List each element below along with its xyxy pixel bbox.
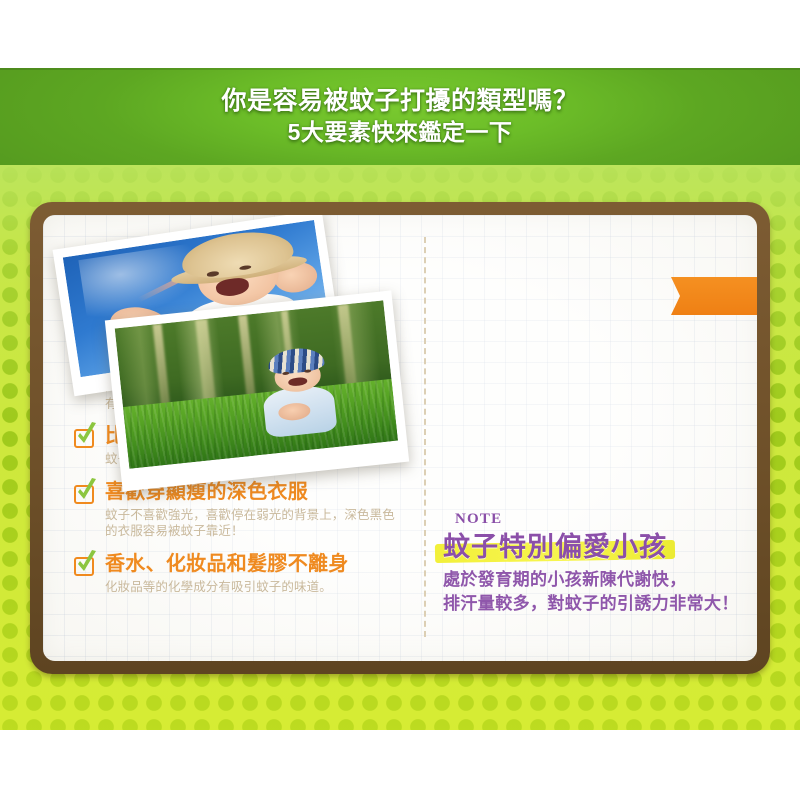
list-item-description: 化妝品等的化學成分有吸引蚊子的味道。 xyxy=(105,579,409,596)
content-card: 活動力強 肺活量大 蚊子在幾十公尺外就能探測人體呼出的二氧化碳！ 肺活量大會呼出… xyxy=(30,202,770,674)
note-label: NOTE xyxy=(455,511,757,528)
list-item-description: 蚊子不喜歡強光，喜歡停在弱光的背景上，深色黑色 的衣服容易被蚊子靠近！ xyxy=(105,507,409,540)
description-line: 化妝品等的化學成分有吸引蚊子的味道。 xyxy=(105,579,409,596)
checkbox-checked-icon xyxy=(74,483,98,506)
note-body-line: 排汗量較多，對蚊子的引誘力非常大！ xyxy=(443,592,757,616)
note-title-wrapper: 蚊子特別偏愛小孩 xyxy=(443,530,667,564)
note-title: 蚊子特別偏愛小孩 xyxy=(443,532,667,562)
infographic-poster: 你是容易被蚊子打擾的類型嗎？ 5大要素快來鑑定一下 xyxy=(0,0,800,800)
list-item: 香水、化妝品和髮膠不離身 化妝品等的化學成分有吸引蚊子的味道。 xyxy=(74,552,409,596)
photo-baby-on-grass xyxy=(105,290,409,491)
checkbox-checked-icon xyxy=(74,555,98,578)
checkbox-checked-icon xyxy=(74,427,98,450)
header-title-line-2: 5大要素快來鑑定一下 xyxy=(288,118,513,147)
orange-ribbon-tab xyxy=(671,277,757,315)
note-body: 處於發育期的小孩新陳代謝快， 排汗量較多，對蚊子的引誘力非常大！ xyxy=(443,568,757,616)
dashed-divider xyxy=(424,237,426,637)
description-line: 蚊子不喜歡強光，喜歡停在弱光的背景上，深色黑色 xyxy=(105,507,409,524)
header-banner: 你是容易被蚊子打擾的類型嗎？ 5大要素快來鑑定一下 xyxy=(0,68,800,165)
header-title-line-1: 你是容易被蚊子打擾的類型嗎？ xyxy=(221,86,578,116)
description-line: 的衣服容易被蚊子靠近！ xyxy=(105,523,409,540)
list-item-title: 香水、化妝品和髮膠不離身 xyxy=(105,552,349,577)
grid-paper-surface: 活動力強 肺活量大 蚊子在幾十公尺外就能探測人體呼出的二氧化碳！ 肺活量大會呼出… xyxy=(43,215,757,661)
note-body-line: 處於發育期的小孩新陳代謝快， xyxy=(443,568,757,592)
note-block: NOTE 蚊子特別偏愛小孩 處於發育期的小孩新陳代謝快， 排汗量較多，對蚊子的引… xyxy=(443,511,757,616)
